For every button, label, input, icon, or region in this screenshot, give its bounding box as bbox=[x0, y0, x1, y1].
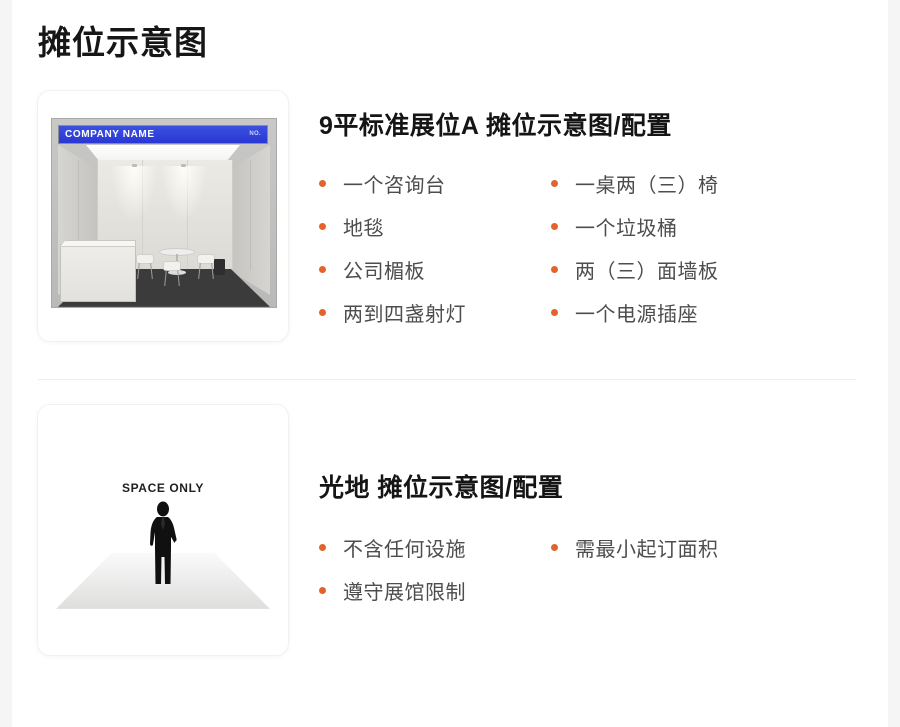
list-item: 一桌两（三）椅 bbox=[551, 162, 783, 205]
list-item-label: 两到四盏射灯 bbox=[343, 298, 466, 327]
list-item: 两到四盏射灯 bbox=[319, 291, 551, 334]
spotlight-icon bbox=[132, 164, 137, 167]
bullet-dot-icon bbox=[551, 266, 558, 273]
bullet-dot-icon bbox=[319, 587, 326, 594]
section-heading-standard-booth: 9平标准展位A 摊位示意图/配置 bbox=[319, 99, 888, 142]
list-item: 一个垃圾桶 bbox=[551, 205, 783, 248]
page-title: 摊位示意图 bbox=[12, 0, 888, 65]
section-standard-booth-body: 9平标准展位A 摊位示意图/配置 一个咨询台 地毯 公司楣板 两到四盏射灯 bbox=[288, 91, 888, 334]
bullet-dot-icon bbox=[551, 223, 558, 230]
bullet-dot-icon bbox=[319, 309, 326, 316]
list-item-label: 一个垃圾桶 bbox=[575, 212, 678, 241]
space-only-illustration: SPACE ONLY bbox=[38, 405, 288, 655]
list-item-label: 一个电源插座 bbox=[575, 298, 698, 327]
list-item: 公司楣板 bbox=[319, 248, 551, 291]
list-item: 需最小起订面积 bbox=[551, 526, 783, 569]
space-only-label: SPACE ONLY bbox=[38, 481, 288, 495]
space-only-image-card[interactable]: SPACE ONLY bbox=[38, 405, 288, 655]
list-item-label: 遵守展馆限制 bbox=[343, 576, 466, 605]
bullet-dot-icon bbox=[551, 544, 558, 551]
bullet-dot-icon bbox=[319, 180, 326, 187]
list-item: 两（三）面墙板 bbox=[551, 248, 783, 291]
list-item: 遵守展馆限制 bbox=[319, 569, 551, 612]
bullet-dot-icon bbox=[551, 309, 558, 316]
trash-bin-icon bbox=[214, 259, 225, 275]
list-item-label: 一个咨询台 bbox=[343, 169, 446, 198]
list-item: 地毯 bbox=[319, 205, 551, 248]
list-item-label: 两（三）面墙板 bbox=[575, 255, 719, 284]
reception-counter bbox=[60, 244, 136, 302]
booth-image-card[interactable]: COMPANY NAME NO. bbox=[38, 91, 288, 341]
section-divider bbox=[38, 379, 856, 380]
bullet-dot-icon bbox=[319, 223, 326, 230]
booth-fascia: COMPANY NAME NO. bbox=[58, 125, 268, 144]
list-item: 一个咨询台 bbox=[319, 162, 551, 205]
section-heading-space-only: 光地 摊位示意图/配置 bbox=[319, 413, 888, 504]
list-item-label: 需最小起订面积 bbox=[575, 533, 719, 562]
bullet-dot-icon bbox=[319, 266, 326, 273]
fascia-booth-number: NO. bbox=[249, 131, 261, 137]
bullet-dot-icon bbox=[551, 180, 558, 187]
content-page: 摊位示意图 bbox=[12, 0, 888, 727]
list-item-label: 地毯 bbox=[343, 212, 384, 241]
section-space-only: SPACE ONLY 光地 摊位示意图/配置 不含任何设施 bbox=[12, 405, 888, 655]
person-silhouette-icon bbox=[146, 500, 180, 586]
standard-booth-illustration: COMPANY NAME NO. bbox=[51, 118, 277, 314]
list-item-label: 不含任何设施 bbox=[343, 533, 466, 562]
spec-list-standard-booth: 一个咨询台 地毯 公司楣板 两到四盏射灯 一桌两（三）椅 bbox=[319, 162, 888, 334]
section-space-only-body: 光地 摊位示意图/配置 不含任何设施 遵守展馆限制 需最小起订面积 bbox=[288, 405, 888, 612]
fascia-company-name: COMPANY NAME bbox=[65, 129, 155, 140]
list-item-label: 公司楣板 bbox=[343, 255, 425, 284]
spec-list-space-only: 不含任何设施 遵守展馆限制 需最小起订面积 bbox=[319, 526, 888, 612]
list-item-label: 一桌两（三）椅 bbox=[575, 169, 719, 198]
list-item: 不含任何设施 bbox=[319, 526, 551, 569]
bullet-dot-icon bbox=[319, 544, 326, 551]
spotlight-icon bbox=[181, 164, 186, 167]
section-standard-booth: COMPANY NAME NO. 9平标准展位A 摊位示意图/配置 一个咨询台 … bbox=[12, 91, 888, 341]
list-item: 一个电源插座 bbox=[551, 291, 783, 334]
